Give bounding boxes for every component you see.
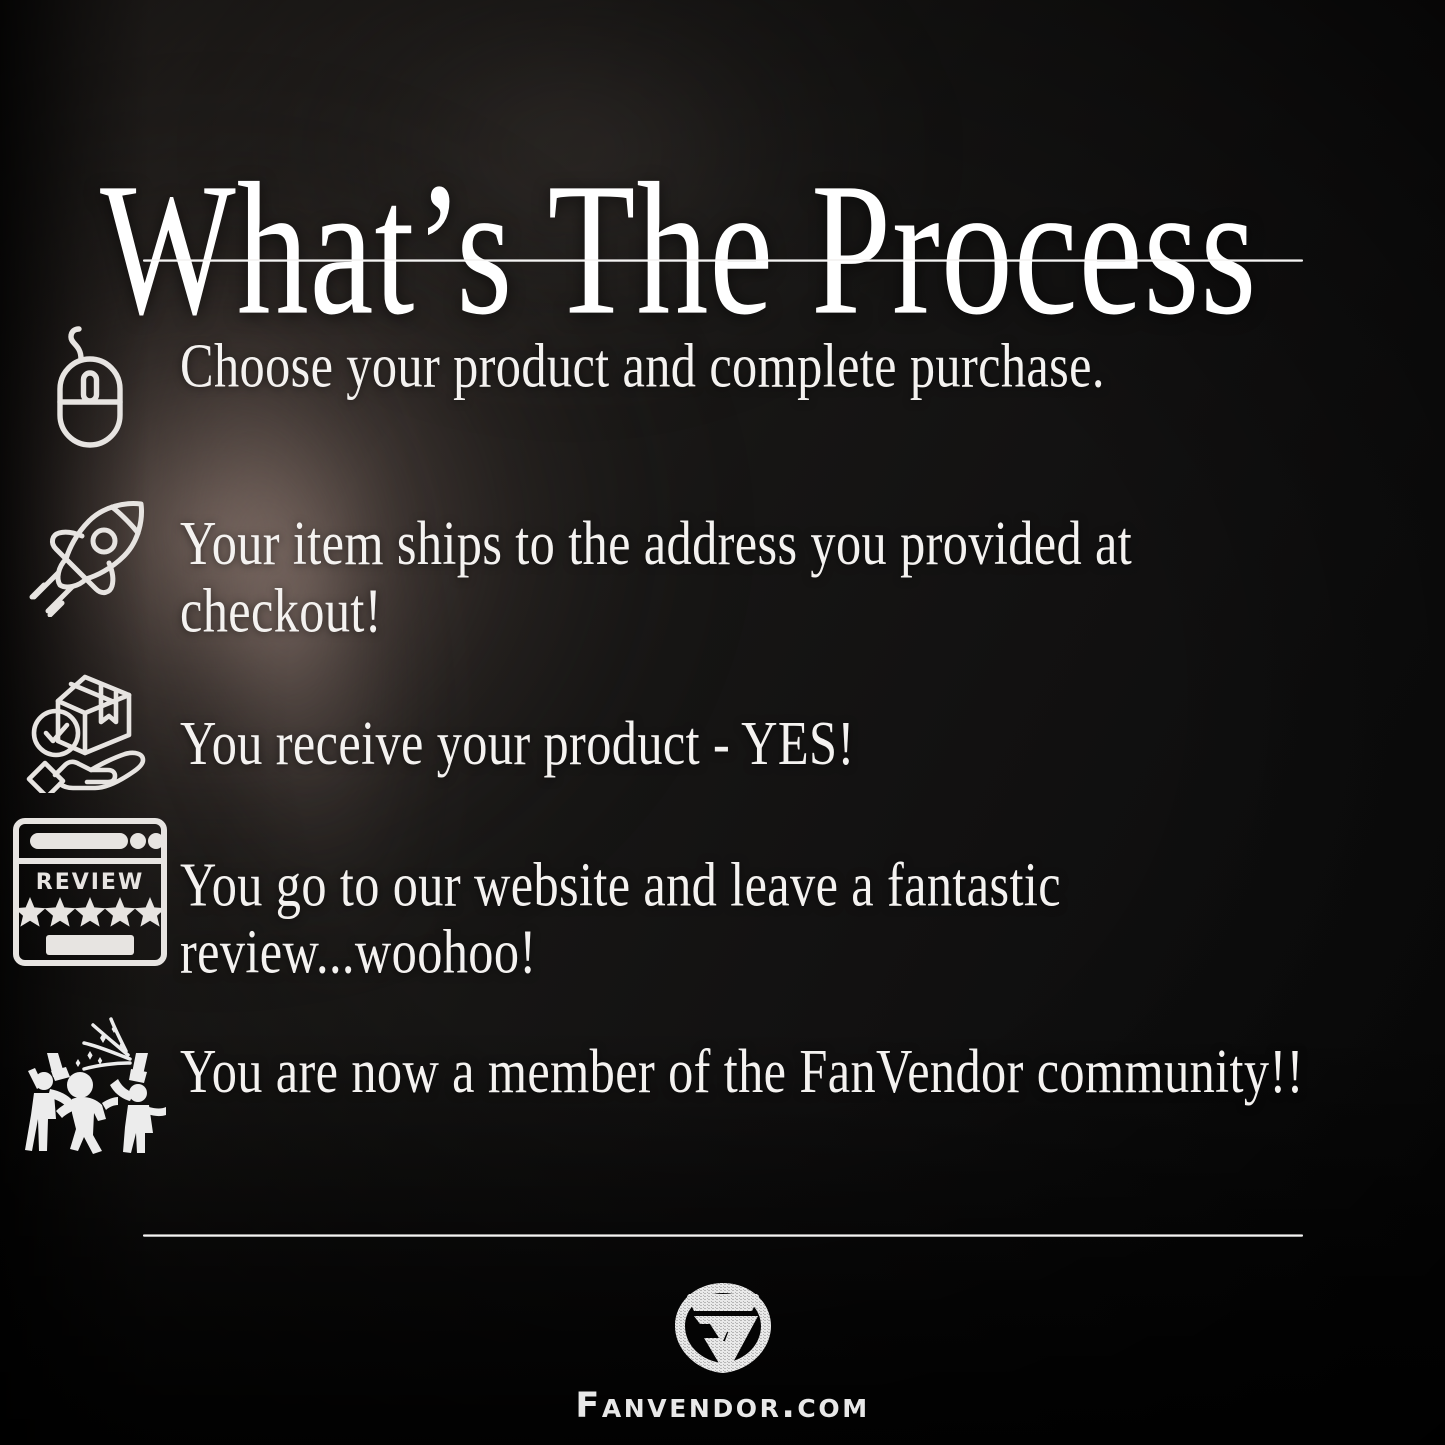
rocket-icon — [0, 485, 180, 617]
process-infographic: What’s The Process Choose your product a… — [0, 0, 1445, 1445]
divider-bottom — [143, 1234, 1303, 1237]
celebration-people-icon — [0, 1001, 180, 1155]
process-step-text: You receive your product - YES! — [180, 645, 1382, 779]
review-icon-label: REVIEW — [36, 870, 144, 895]
process-step-text: You are now a member of the FanVendor co… — [180, 1001, 1382, 1106]
process-step-text: You go to our website and leave a fantas… — [180, 805, 1382, 987]
divider-top — [143, 259, 1303, 262]
footer: FanVendor.com — [0, 1280, 1445, 1426]
process-step: You receive your product - YES! — [0, 645, 1445, 805]
package-in-hand-check-icon — [0, 645, 180, 793]
process-step-text: Choose your product and complete purchas… — [180, 305, 1382, 401]
browser-review-stars-icon: REVIEW — [0, 805, 180, 967]
fanvendor-shield-logo — [664, 1280, 782, 1376]
process-step: Choose your product and complete purchas… — [0, 305, 1445, 485]
process-step: REVIEW You go to our website and leave a… — [0, 805, 1445, 1001]
process-step-list: Choose your product and complete purchas… — [0, 305, 1445, 1161]
brand-name: FanVendor.com — [575, 1386, 869, 1426]
computer-mouse-icon — [0, 305, 180, 449]
process-step: You are now a member of the FanVendor co… — [0, 1001, 1445, 1161]
process-step: Your item ships to the address you provi… — [0, 485, 1445, 645]
process-step-text: Your item ships to the address you provi… — [180, 485, 1382, 646]
